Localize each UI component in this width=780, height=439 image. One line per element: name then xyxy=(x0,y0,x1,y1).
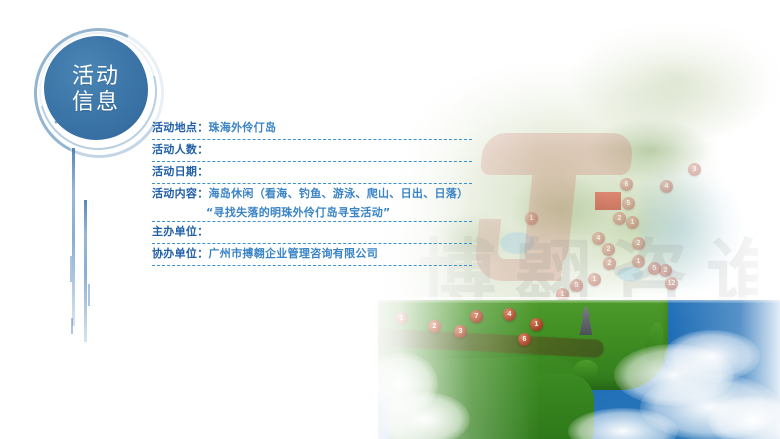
map-marker: 1 xyxy=(530,318,543,331)
brush-stroke-right xyxy=(84,200,87,342)
map-faded-sea xyxy=(640,150,780,310)
map-marker: 6 xyxy=(518,333,531,346)
map-marker: 3 xyxy=(454,325,467,338)
map-marker: 2 xyxy=(632,237,645,250)
map-marker: 4 xyxy=(503,308,516,321)
brush-speck xyxy=(88,284,90,306)
map-lake-east xyxy=(617,267,643,281)
row-dashed-rule xyxy=(152,265,472,266)
map-marker: 7 xyxy=(470,310,483,323)
info-label: 主办单位： xyxy=(152,225,209,238)
map-marker: 5 xyxy=(570,279,583,292)
flag-landmark-icon xyxy=(595,192,621,210)
info-label: 协办单位： xyxy=(152,247,209,260)
info-label: 活动人数： xyxy=(152,143,209,156)
map-indochina-peninsula xyxy=(528,374,594,439)
info-label: 活动地点： xyxy=(152,121,209,134)
map-marker: 2 xyxy=(428,320,441,333)
info-label: 活动内容： xyxy=(152,187,209,200)
info-value: 珠海外伶仃岛 xyxy=(209,121,277,134)
info-label: 活动日期： xyxy=(152,165,209,178)
info-value-secondary: “寻找失落的明珠外伶仃岛寻宝活动” xyxy=(152,204,472,220)
info-row-location: 活动地点：珠海外伶仃岛 xyxy=(152,118,472,140)
event-info-block: 活动地点：珠海外伶仃岛 活动人数： 活动日期： 活动内容：海岛休闲（看海、钓鱼、… xyxy=(152,118,472,266)
stamp-title-line1: 活动 xyxy=(72,64,120,90)
stamp-title-line2: 信息 xyxy=(72,90,120,116)
map-marker: 1 xyxy=(588,273,601,286)
map-marker: 2 xyxy=(613,212,626,225)
map-marker: 1 xyxy=(626,216,639,229)
info-row-organizer: 主办单位： xyxy=(152,222,472,244)
map-marker: 2 xyxy=(659,264,672,277)
brush-stroke-left xyxy=(72,148,75,326)
info-row-content: 活动内容：海岛休闲（看海、钓鱼、游泳、爬山、日出、日落） “寻找失落的明珠外伶仃… xyxy=(152,184,472,222)
brush-speck xyxy=(70,256,72,282)
map-marker: 3 xyxy=(688,163,701,176)
map-marker: 5 xyxy=(622,197,635,210)
stamp-title: 活动 信息 xyxy=(34,28,158,152)
info-row-date: 活动日期： xyxy=(152,162,472,184)
ink-circle-stamp: 活动 信息 xyxy=(34,28,158,152)
map-marker: 1 xyxy=(395,312,408,325)
info-row-headcount: 活动人数： xyxy=(152,140,472,162)
map-hainan-island xyxy=(574,360,598,378)
map-marker: 2 xyxy=(602,243,615,256)
map-marker: 1 xyxy=(525,212,538,225)
brush-speck xyxy=(71,318,73,334)
info-value: 海岛休闲（看海、钓鱼、游泳、爬山、日出、日落） xyxy=(209,187,469,200)
map-marker: 2 xyxy=(603,257,616,270)
map-marker: 12 xyxy=(665,277,678,290)
map-marker: 4 xyxy=(660,180,673,193)
map-marker: 4 xyxy=(592,232,605,245)
info-value: 广州市搏翱企业管理咨询有限公司 xyxy=(209,247,379,260)
map-marker: 6 xyxy=(620,178,633,191)
map-marker: 1 xyxy=(632,255,645,268)
slide-canvas: 博翱咨询 3 4 1 2 1 5 4 2 2 2 1 5 2 12 5 1 1 … xyxy=(0,0,780,439)
info-row-co-organizer: 协办单位：广州市搏翱企业管理咨询有限公司 xyxy=(152,244,472,266)
map-lake-west xyxy=(500,232,534,254)
map-foreground-region: 1 2 7 4 3 1 6 xyxy=(378,300,780,439)
